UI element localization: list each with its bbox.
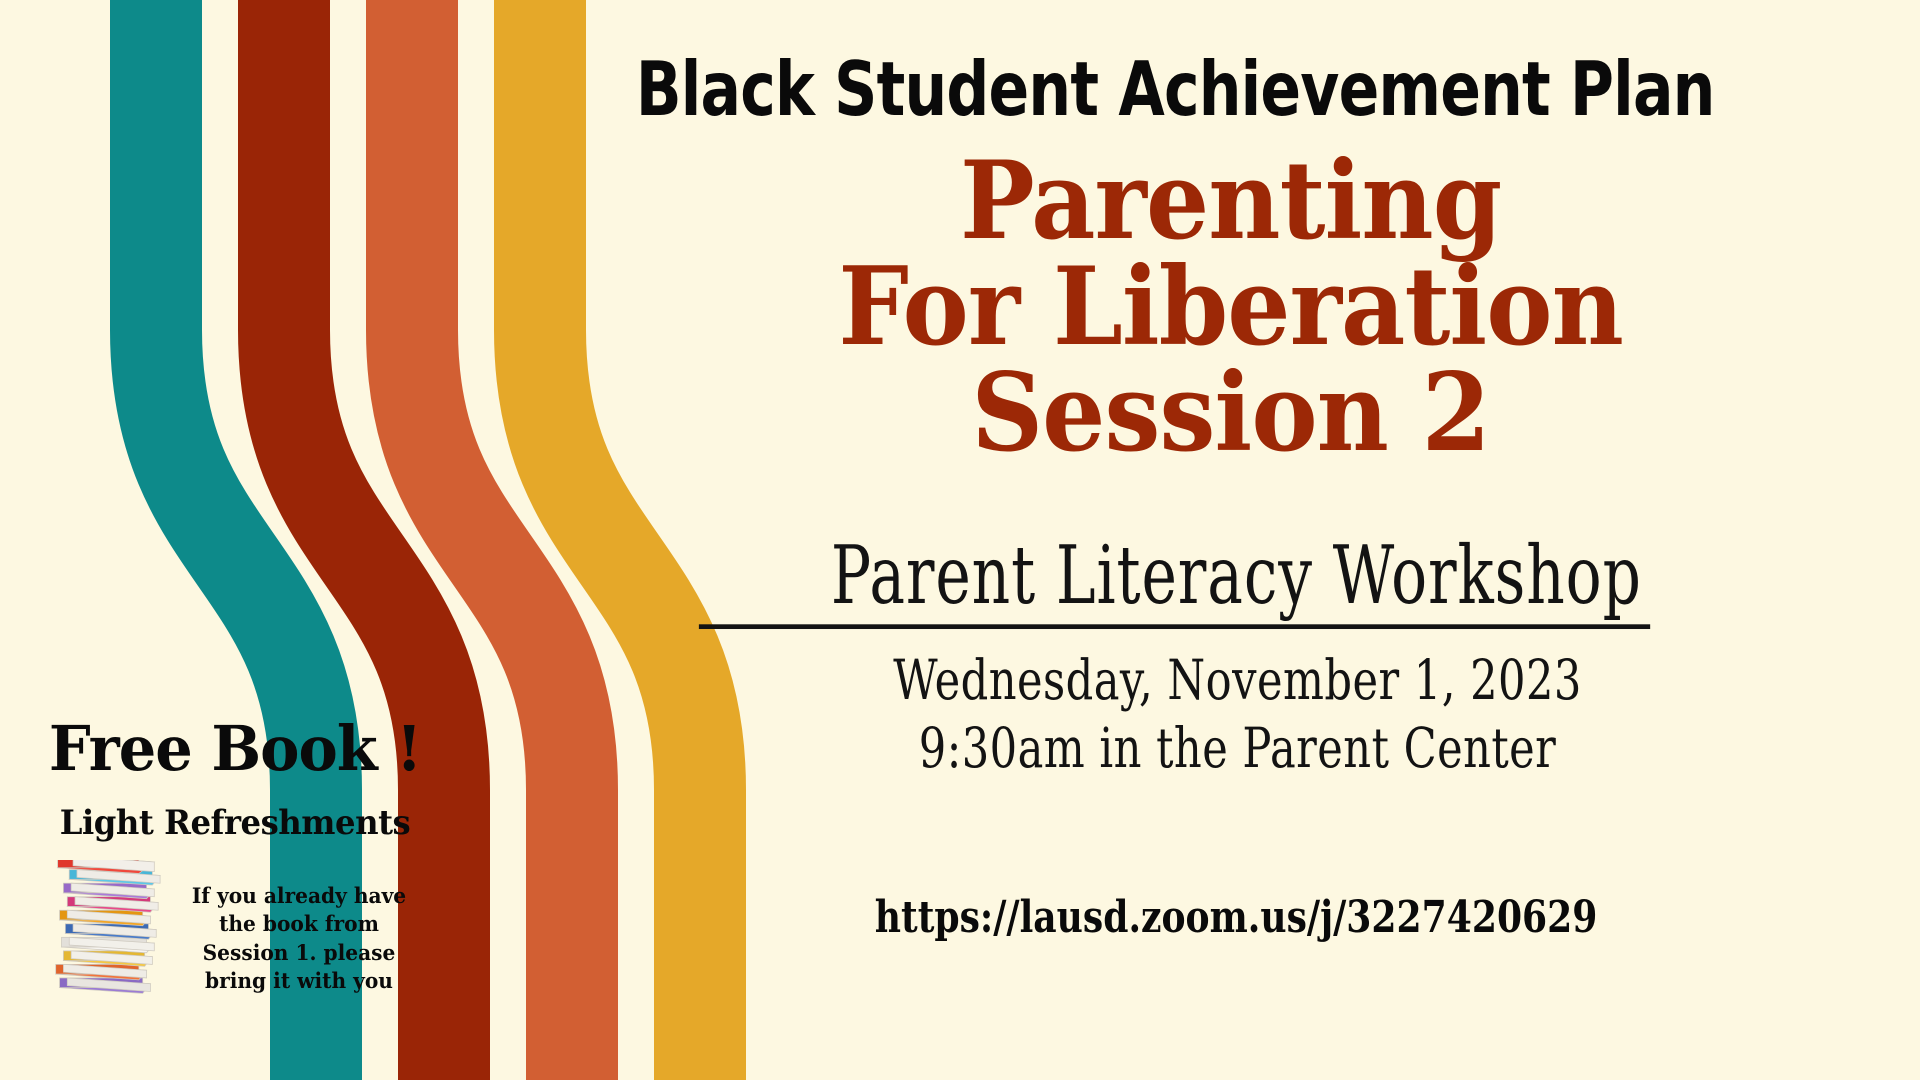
event-date: Wednesday, November 1, 2023 [894,648,1583,715]
headline-block: Parenting For Liberation Session 2 [727,149,1622,466]
headline-line-3: Session 2 [838,361,1623,467]
book-note: If you already have the book from Sessio… [189,882,410,995]
page-title: Black Student Achievement Plan [636,52,1715,127]
poster-canvas: Black Student Achievement Plan Parenting… [0,0,1920,1080]
offers-block: Free Book ! Light Refreshments [0,718,470,1005]
zoom-link[interactable]: https://lausd.zoom.us/j/3227420629 [752,892,1598,943]
headline-line-1: Parenting [838,149,1623,255]
event-details: Wednesday, November 1, 2023 9:30am in th… [768,648,1583,783]
free-book-callout: Free Book ! [12,718,459,780]
books-and-note-row: If you already have the book from Sessio… [0,860,470,1005]
headline-line-2: For Liberation [838,255,1623,361]
stacked-books-icon [40,860,170,1005]
event-time-location: 9:30am in the Parent Center [894,715,1583,782]
workshop-subtitle: Parent Literacy Workshop [699,537,1651,629]
main-content: Black Student Achievement Plan Parenting… [430,0,1920,1080]
refreshments-callout: Light Refreshments [12,806,459,840]
